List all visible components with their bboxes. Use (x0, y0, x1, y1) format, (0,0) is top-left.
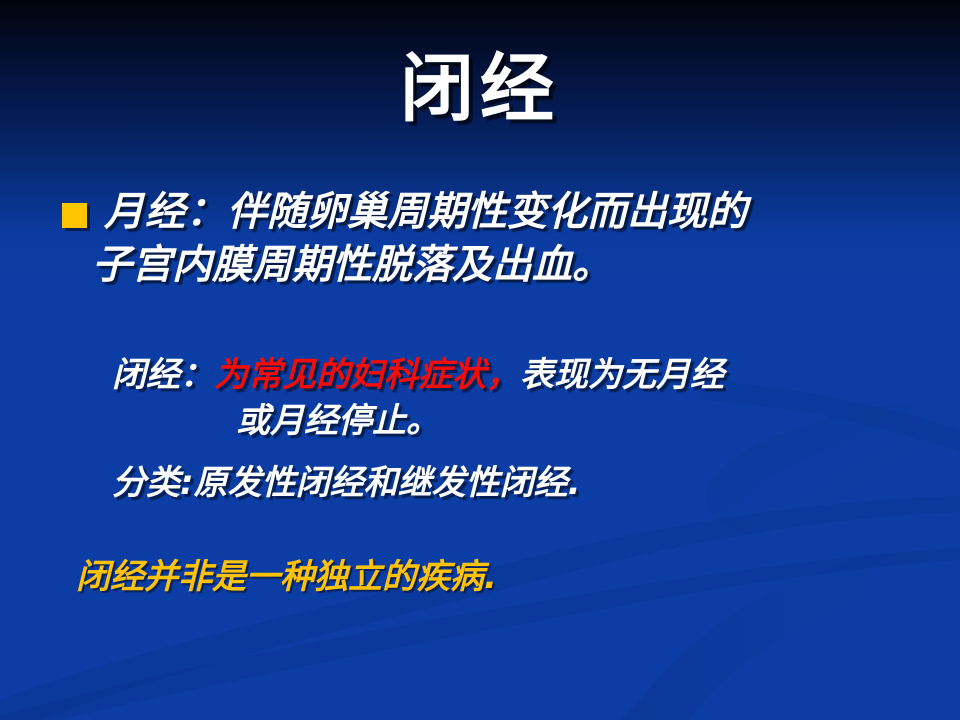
presentation-slide: 闭经 月经：伴随卵巢周期性变化而出现的 子宫内膜周期性脱落及出血。 闭经：为常见… (0, 0, 960, 720)
definition-line-1-rest: 表现为无月经 (520, 355, 724, 395)
closing-statement-period: . (484, 557, 497, 597)
classification-line: 分类:原发性闭经和继发性闭经. (0, 460, 960, 506)
definition-line-1: 闭经：为常见的妇科症状，表现为无月经 (0, 352, 960, 398)
bullet-square-icon (62, 203, 87, 228)
closing-statement: 闭经并非是一种独立的疾病. (0, 554, 960, 600)
bullet-line-1-rest: 伴随卵巢周期性变化而出现的 (227, 189, 747, 235)
definition-label: 闭经： (112, 355, 214, 395)
bullet-list: 月经：伴随卵巢周期性变化而出现的 子宫内膜周期性脱落及出血。 (60, 186, 920, 292)
bullet-colon: ： (186, 189, 227, 235)
bullet-lead-label: 月经 (104, 189, 186, 235)
definition-line-2: 或月经停止。 (0, 398, 960, 444)
definition-block: 闭经：为常见的妇科症状，表现为无月经 或月经停止。 分类:原发性闭经和继发性闭经… (0, 352, 960, 506)
definition-highlight: 为常见的妇科症状 (214, 355, 486, 395)
list-item: 月经：伴随卵巢周期性变化而出现的 子宫内膜周期性脱落及出血。 (60, 186, 920, 292)
definition-comma: ， (486, 355, 520, 395)
closing-statement-text: 闭经并非是一种独立的疾病 (76, 557, 484, 597)
bullet-line-1: 月经：伴随卵巢周期性变化而出现的 (60, 186, 920, 238)
slide-title: 闭经 (0, 46, 960, 132)
bullet-line-2: 子宫内膜周期性脱落及出血。 (60, 238, 920, 292)
